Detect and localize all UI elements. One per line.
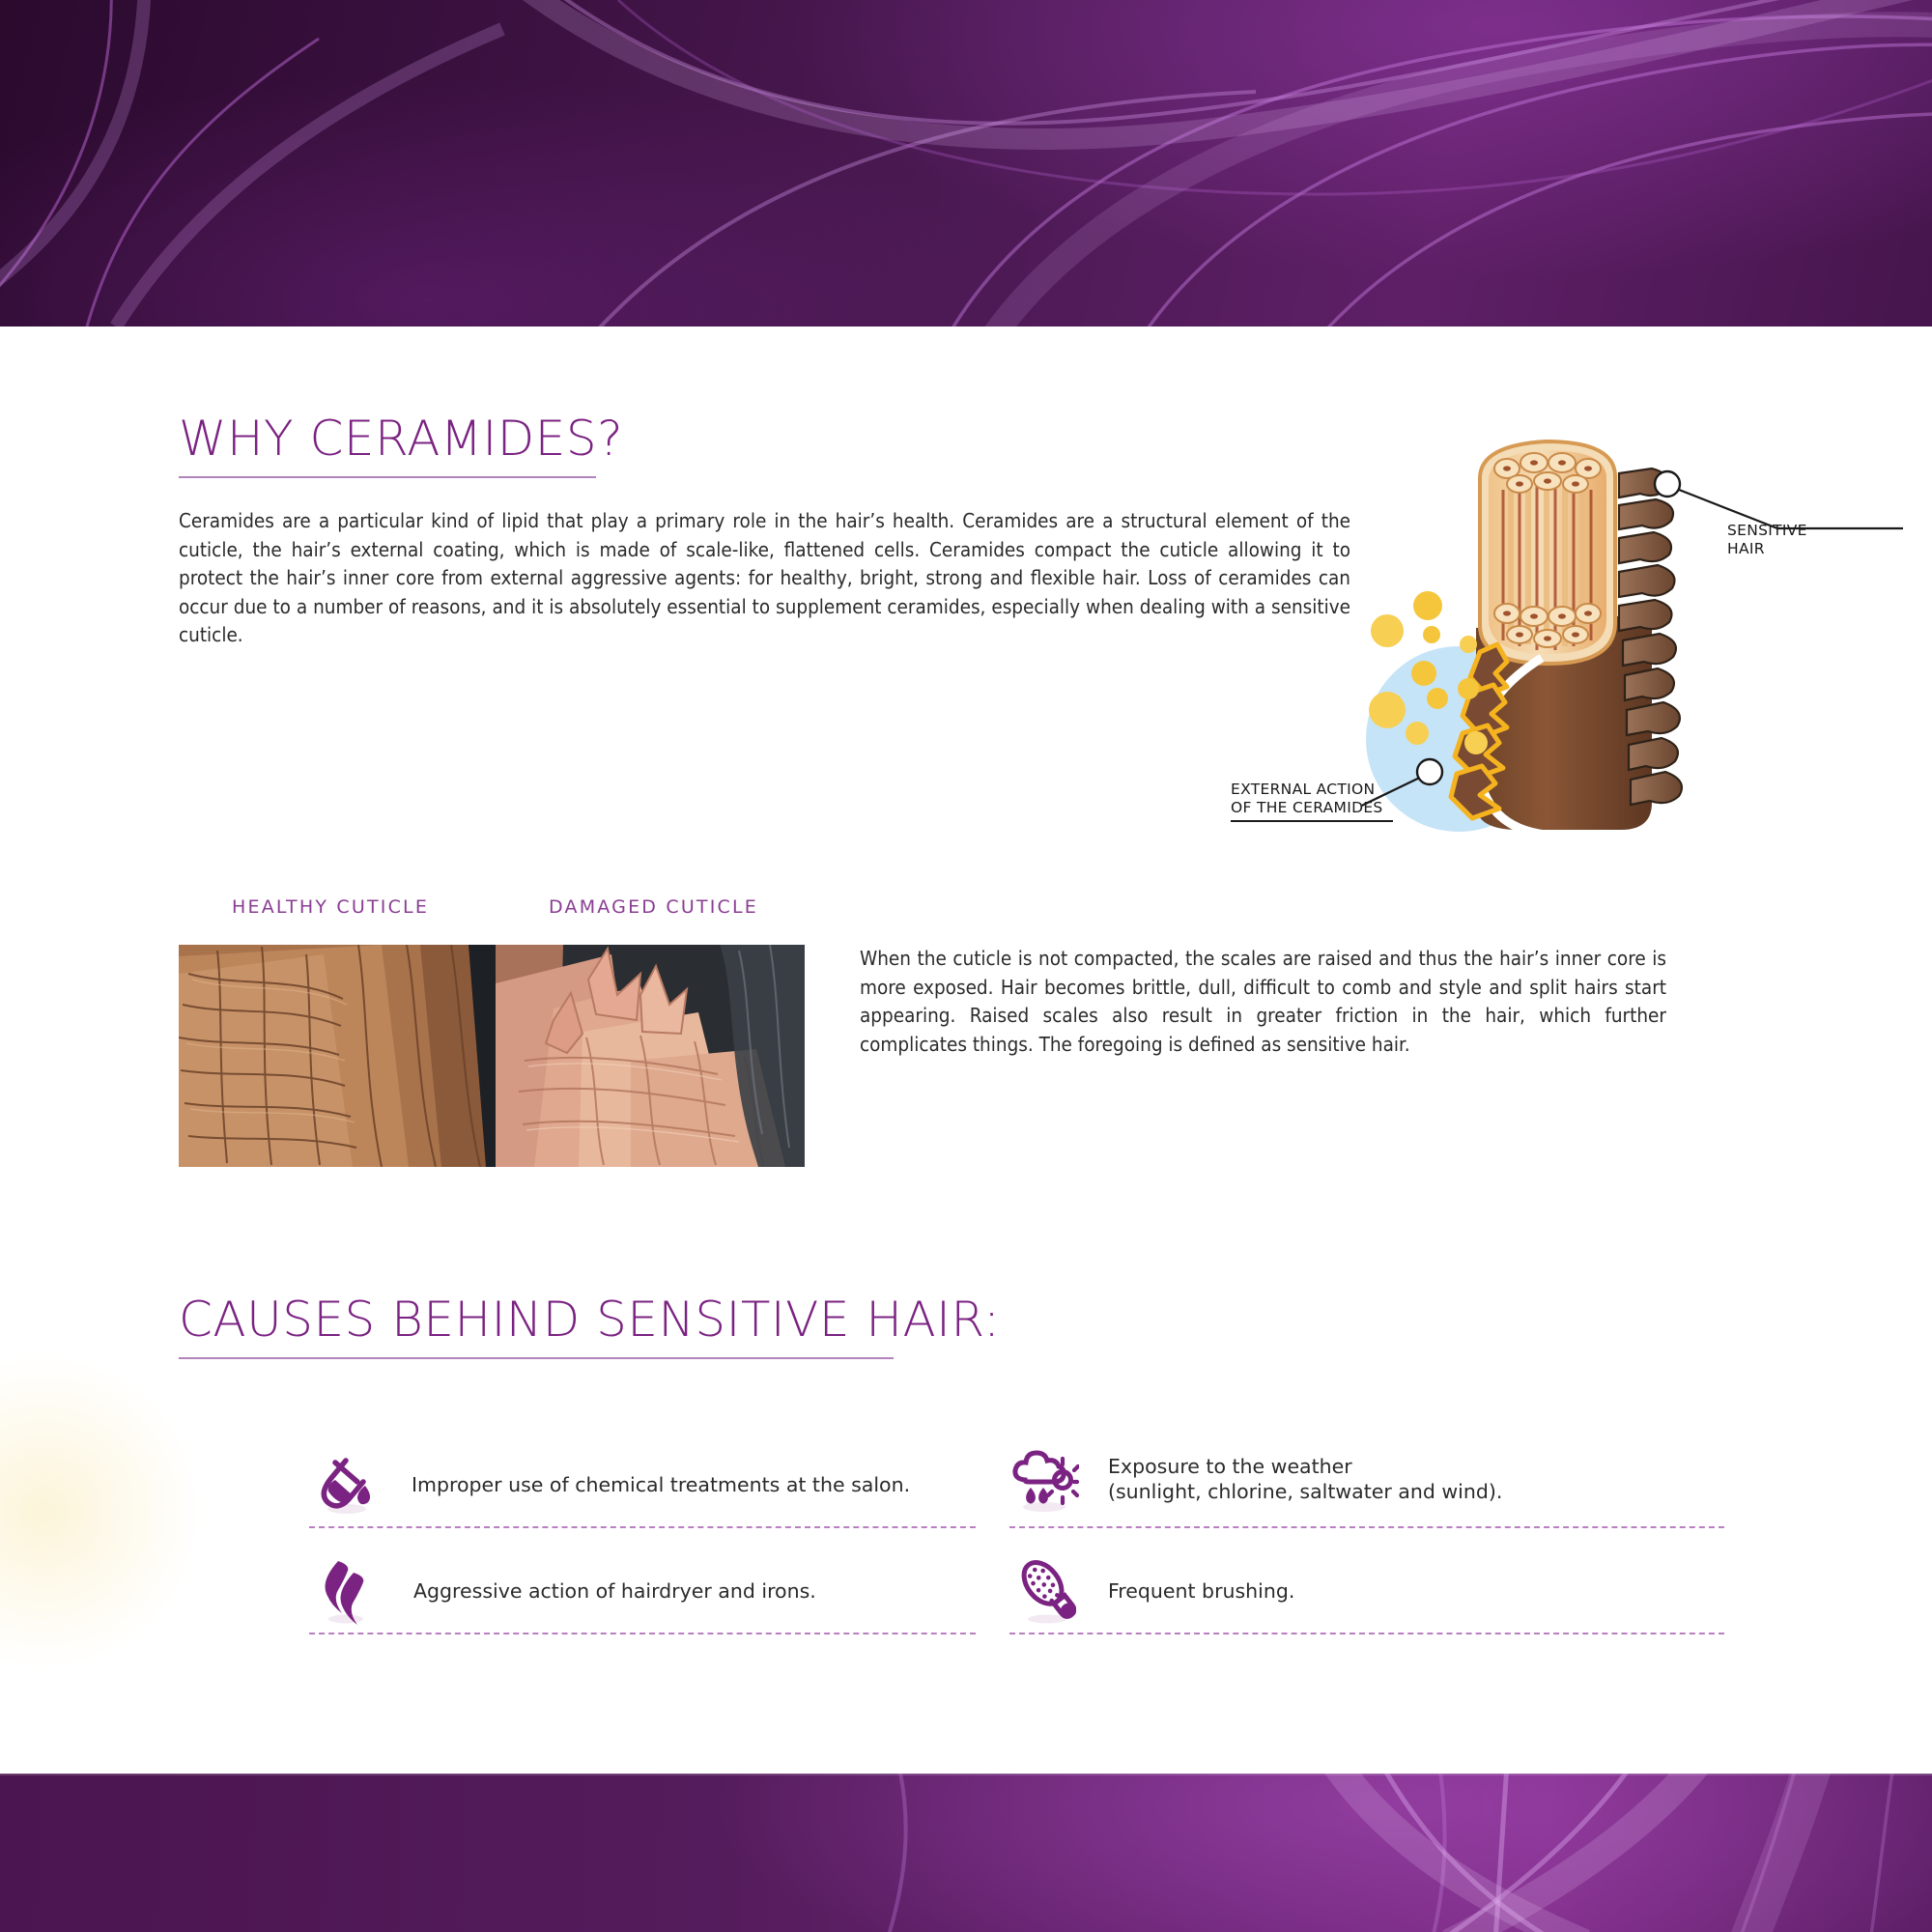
cause-label: Frequent brushing. — [1108, 1578, 1294, 1604]
caption-healthy-cuticle: HEALTHY CUTICLE — [232, 896, 429, 918]
callout-line-2: OF THE CERAMIDES — [1231, 799, 1393, 817]
cause-item-heat-tools[interactable]: Aggressive action of hairdryer and irons… — [309, 1553, 976, 1629]
photo-damaged-cuticle — [496, 945, 805, 1167]
cause-item-brushing[interactable]: Frequent brushing. — [1009, 1553, 1724, 1629]
micrograph-description: When the cuticle is not compacted, the s… — [860, 945, 1666, 1059]
bottom-band-curves — [0, 1774, 1932, 1932]
caption-damaged-cuticle: DAMAGED CUTICLE — [549, 896, 758, 918]
cause-divider-3 — [309, 1633, 976, 1634]
cloud-sun-rain-icon — [1009, 1444, 1079, 1514]
callout-line-1: SENSITIVE — [1727, 522, 1807, 540]
callout-line-1: EXTERNAL ACTION — [1231, 781, 1393, 799]
causes-underline — [179, 1357, 894, 1359]
callout-line-2: HAIR — [1727, 540, 1807, 558]
cause-item-chemical-treatments[interactable]: Improper use of chemical treatments at t… — [309, 1447, 976, 1522]
brochure-page: WHY CERAMIDES? Ceramides are a particula… — [0, 0, 1932, 1932]
why-ceramides-header: WHY CERAMIDES? — [179, 411, 623, 478]
cause-divider-2 — [1009, 1526, 1724, 1528]
causes-title: CAUSES BEHIND SENSITIVE HAIR: — [179, 1292, 1000, 1348]
why-ceramides-paragraph: Ceramides are a particular kind of lipid… — [179, 507, 1350, 650]
callout-sensitive-hair: SENSITIVE HAIR — [1727, 522, 1807, 558]
cause-label: Exposure to the weather (sunlight, chlor… — [1108, 1454, 1502, 1504]
cause-divider-1 — [309, 1526, 976, 1528]
top-decorative-band — [0, 0, 1932, 327]
heat-waves-icon — [309, 1556, 379, 1626]
callout-rule — [1231, 820, 1393, 822]
cause-label: Aggressive action of hairdryer and irons… — [413, 1578, 816, 1604]
decorative-glow — [0, 1352, 203, 1671]
bottom-decorative-band — [0, 1774, 1932, 1932]
hair-structure-diagram — [1362, 420, 1903, 836]
sensitive-hair-marker — [1655, 471, 1680, 497]
ceramide-action-marker — [1417, 759, 1442, 784]
photo-healthy-cuticle — [179, 945, 497, 1167]
title-underline — [179, 476, 596, 478]
causes-header: CAUSES BEHIND SENSITIVE HAIR: — [179, 1292, 1000, 1359]
top-band-curves — [0, 0, 1932, 327]
callout-external-action: EXTERNAL ACTION OF THE CERAMIDES — [1231, 781, 1393, 822]
cause-divider-4 — [1009, 1633, 1724, 1634]
cause-item-weather[interactable]: Exposure to the weather (sunlight, chlor… — [1009, 1437, 1724, 1520]
page-title: WHY CERAMIDES? — [179, 411, 623, 467]
test-tube-drop-icon — [309, 1450, 379, 1520]
hairbrush-icon — [1009, 1556, 1079, 1626]
cause-label: Improper use of chemical treatments at t… — [412, 1472, 910, 1497]
